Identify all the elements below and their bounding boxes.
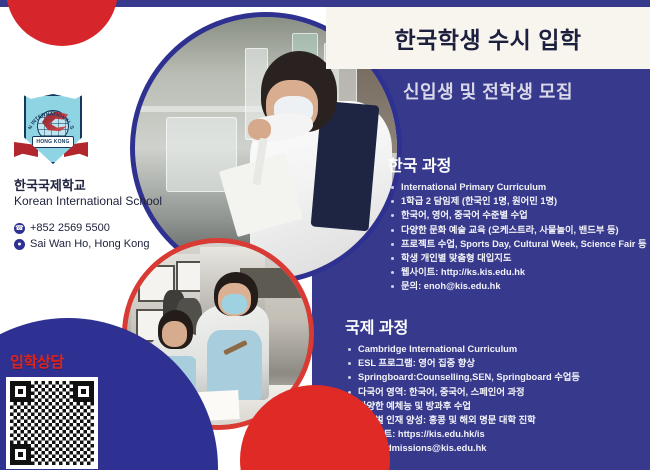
qr-finder-icon <box>10 444 31 465</box>
list-item: 다국어 영역: 한국어, 중국어, 스페인어 과정 <box>345 385 580 399</box>
list-item: 다양한 문화 예술 교육 (오케스트라, 사물놀이, 밴드부 등) <box>388 223 647 237</box>
admissions-badge: 입학상담 <box>10 351 64 372</box>
contact-location-row[interactable]: ● Sai Wan Ho, Hong Kong <box>14 238 149 250</box>
location-pin-icon: ● <box>14 239 25 250</box>
list-item: 학생 개인별 맞춤형 대입지도 <box>388 251 647 265</box>
list-item: 한국어, 영어, 중국어 수준별 수업 <box>388 208 647 222</box>
qr-code-pattern <box>10 381 94 465</box>
qr-finder-icon <box>73 381 94 402</box>
school-name-english: Korean International School <box>14 194 162 208</box>
student-face <box>162 321 187 346</box>
admissions-poster: 한국학생 수시 입학 신입생 및 전학생 모집 한국 과정 Internatio… <box>0 0 650 470</box>
international-curriculum-heading: 국제 과정 <box>345 314 580 338</box>
list-item: ESL 프로그램: 영어 집중 향상 <box>345 356 580 370</box>
contact-block: ☎ +852 2569 5500 ● Sai Wan Ho, Hong Kong <box>14 222 149 254</box>
list-item: 다양한 예체능 및 방과후 수업 <box>345 399 580 413</box>
student-apron <box>207 330 262 399</box>
student-face-mask <box>222 294 247 314</box>
phone-number: +852 2569 5500 <box>30 222 110 234</box>
korean-curriculum-list: International Primary Curriculum 1학급 2 담… <box>388 180 647 294</box>
list-item: 1학급 2 담임제 (한국인 1명, 원어민 1명) <box>388 194 647 208</box>
list-item-website[interactable]: 웹사이트: http://ks.kis.edu.hk <box>388 265 647 279</box>
school-name-korean: 한국국제학교 <box>14 178 162 193</box>
student-hand <box>248 119 272 140</box>
page-title: 한국학생 수시 입학 <box>394 21 581 55</box>
location-text: Sai Wan Ho, Hong Kong <box>30 238 149 250</box>
qr-code[interactable] <box>6 377 98 469</box>
korean-curriculum-heading: 한국 과정 <box>388 152 647 176</box>
contact-phone-row[interactable]: ☎ +852 2569 5500 <box>14 222 149 234</box>
crest-banner-text: HONG KONG <box>36 139 69 145</box>
phone-icon: ☎ <box>14 223 25 234</box>
red-circle-decoration-top-left <box>6 0 118 46</box>
page-subtitle: 신입생 및 전학생 모집 <box>403 82 573 102</box>
list-item: Cambridge International Curriculum <box>345 342 580 356</box>
subtitle-row: 신입생 및 전학생 모집 <box>326 78 650 104</box>
school-crest-logo: HONG KONG KOREAN INTERNATIONAL SCHOOL <box>14 92 88 170</box>
title-band: 한국학생 수시 입학 <box>326 7 650 69</box>
qr-finder-icon <box>10 381 31 402</box>
list-item: International Primary Curriculum <box>388 180 647 194</box>
list-item-email[interactable]: 문의: enoh@kis.edu.hk <box>388 279 647 293</box>
list-item: Springboard:Counselling,SEN, Springboard… <box>345 370 580 384</box>
school-name-block: 한국국제학교 Korean International School <box>14 178 162 208</box>
list-item: 프로젝트 수업, Sports Day, Cultural Week, Scie… <box>388 237 647 251</box>
crest-banner: HONG KONG <box>32 136 74 148</box>
korean-curriculum-section: 한국 과정 International Primary Curriculum 1… <box>388 152 647 294</box>
